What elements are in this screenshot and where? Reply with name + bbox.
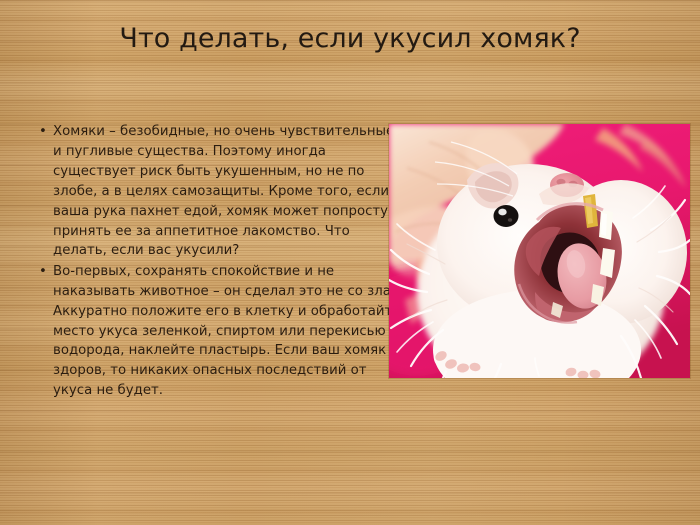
page-title: Что делать, если укусил хомяк? bbox=[0, 22, 700, 56]
hamster-photo-illustration bbox=[389, 124, 690, 378]
bullet-point-icon: • bbox=[39, 122, 47, 142]
presentation-slide: Что делать, если укусил хомяк? • Хомяки … bbox=[0, 0, 700, 525]
paragraph-2-text: Во-первых, сохранять спокойствие и не на… bbox=[53, 264, 400, 398]
hamster-photo bbox=[389, 124, 690, 378]
bullet-paragraph-2: • Во-первых, сохранять спокойствие и не … bbox=[34, 262, 406, 401]
paragraph-1-text: Хомяки – безобидные, но очень чувствител… bbox=[53, 124, 394, 258]
bullet-paragraph-1: • Хомяки – безобидные, но очень чувствит… bbox=[34, 122, 406, 261]
slide-body-text: • Хомяки – безобидные, но очень чувствит… bbox=[34, 122, 406, 402]
bullet-point-icon: • bbox=[39, 262, 47, 282]
